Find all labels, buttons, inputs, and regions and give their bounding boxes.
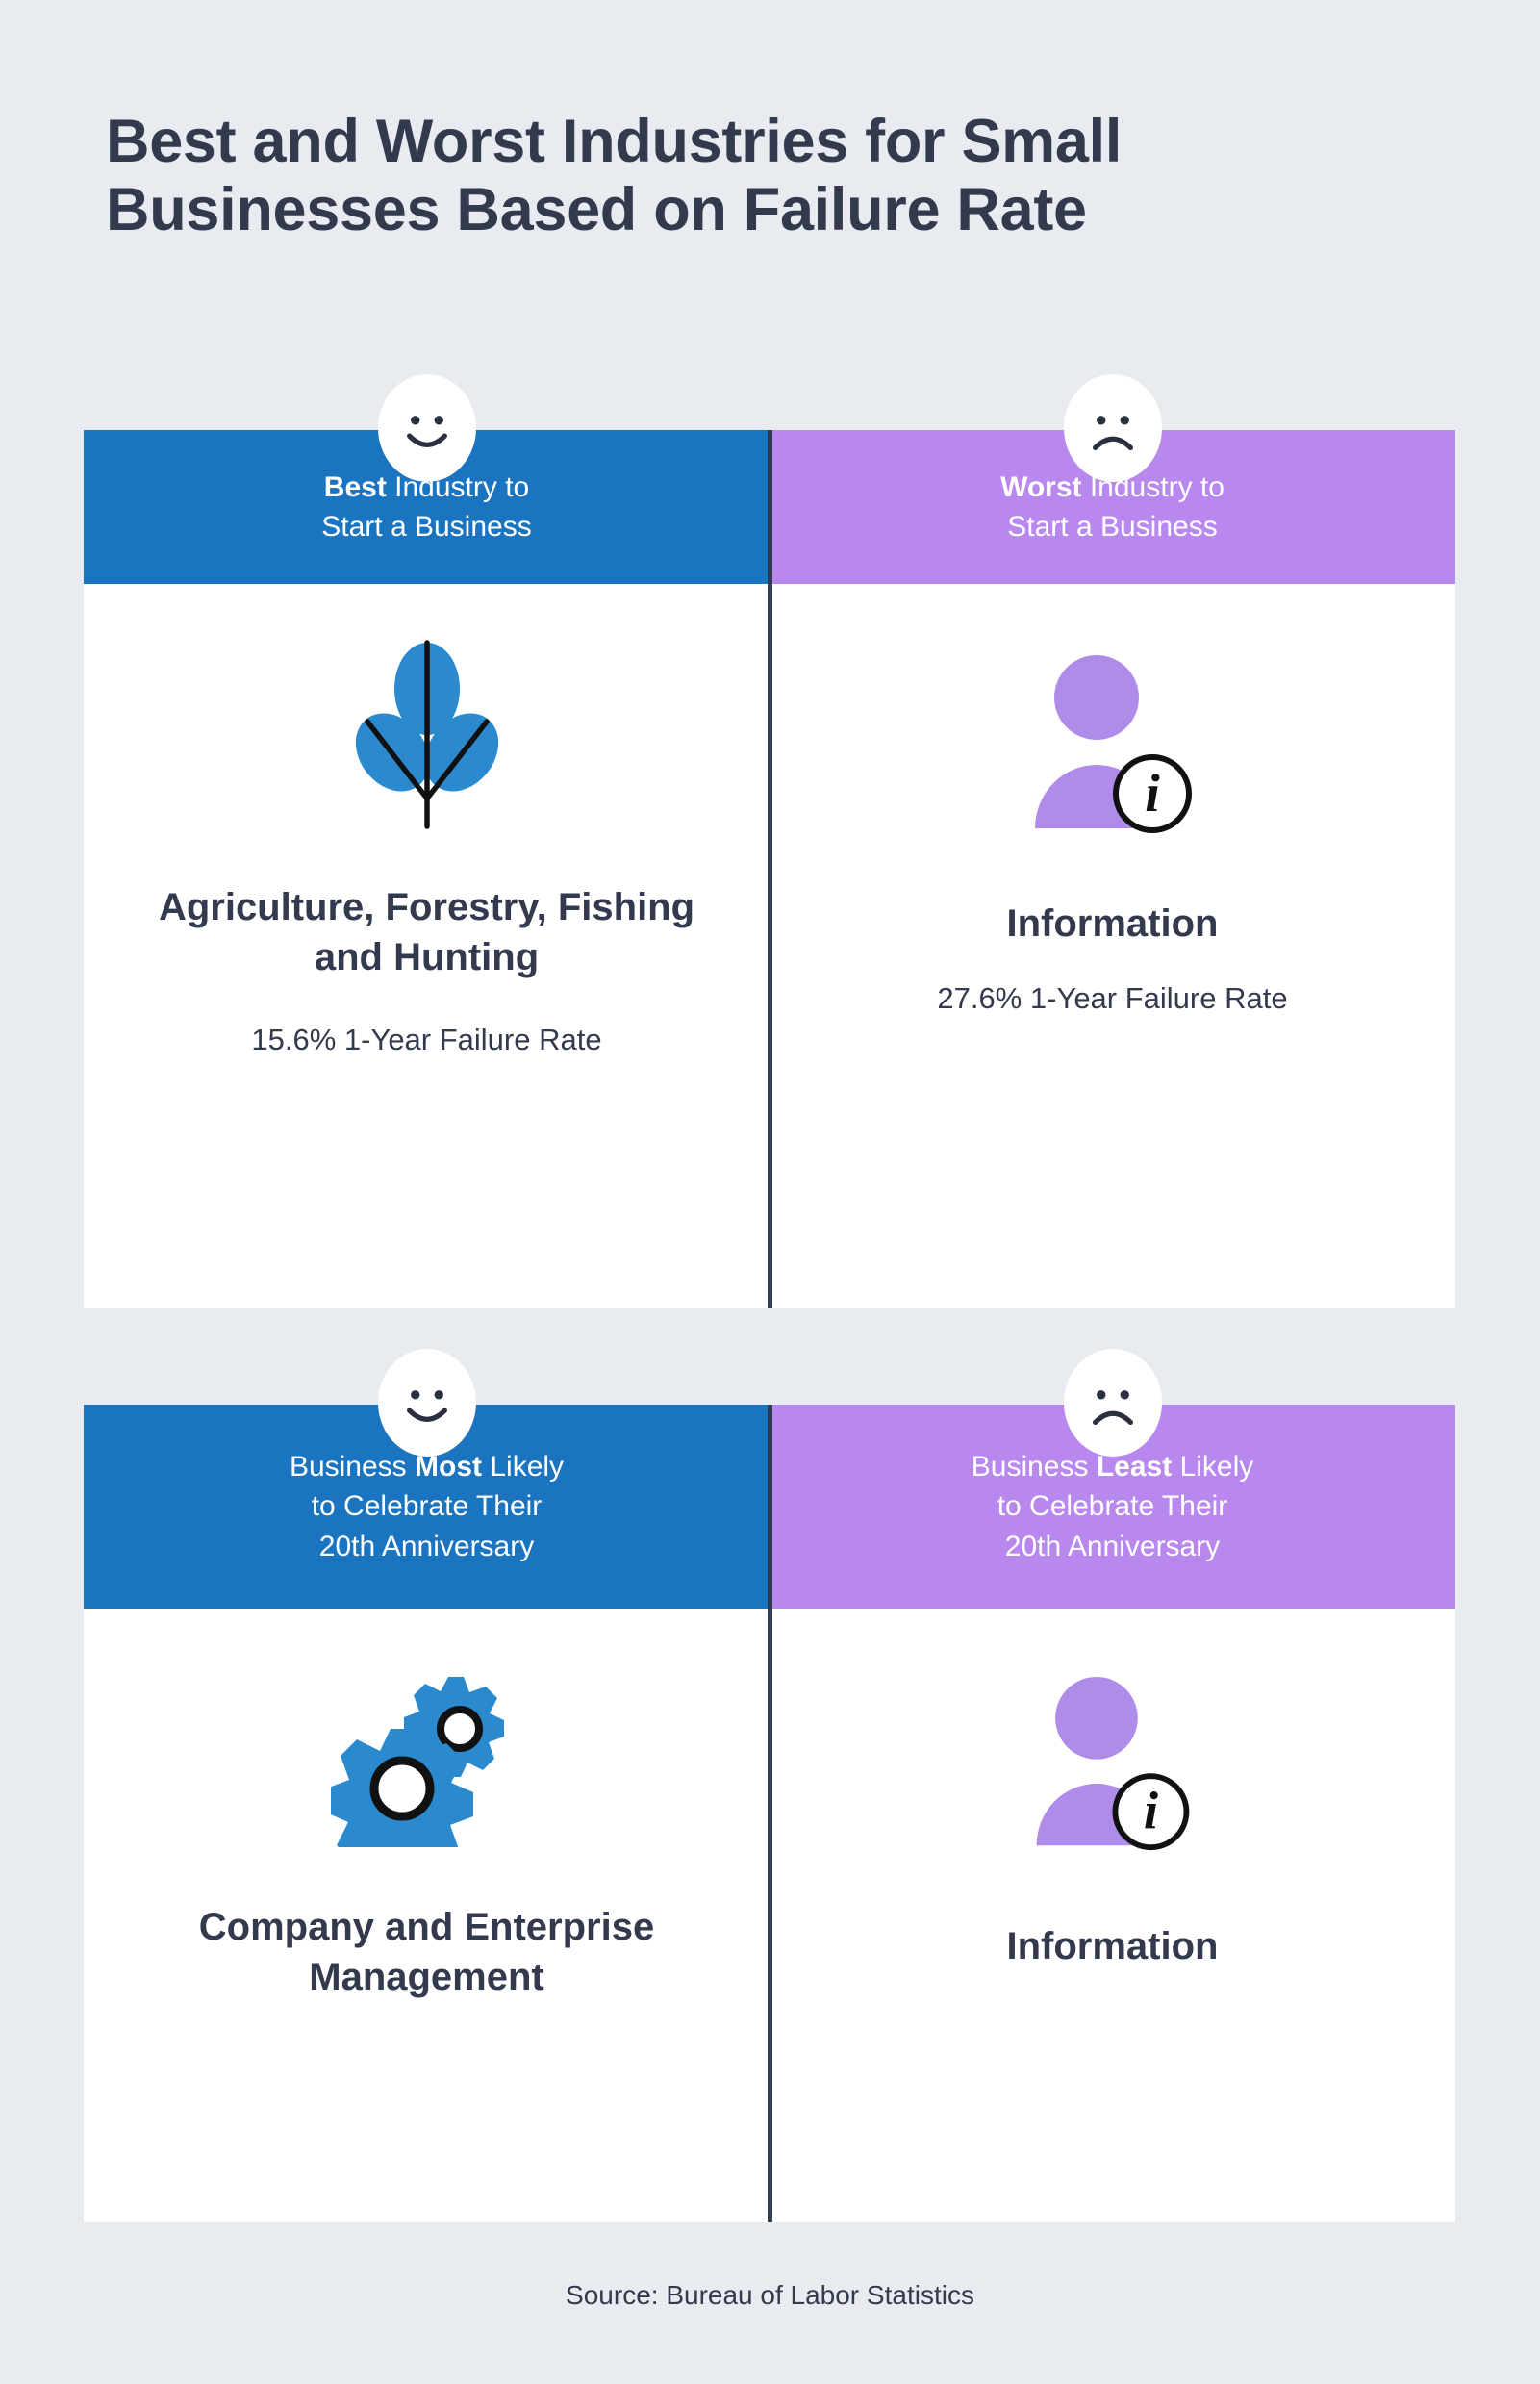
card-most-likely: Business Most Likely to Celebrate Their … bbox=[84, 1405, 770, 2222]
page-title-line-1: Best and Worst Industries for Small bbox=[106, 108, 1452, 176]
card-header-line3-least: 20th Anniversary bbox=[1005, 1531, 1220, 1562]
divider-row-2 bbox=[768, 1405, 772, 2222]
smiley-face-icon bbox=[378, 1349, 476, 1457]
card-header-line3-most: 20th Anniversary bbox=[319, 1531, 534, 1562]
card-header-rest-most: Likely bbox=[482, 1451, 564, 1483]
card-header-most-likely: Business Most Likely to Celebrate Their … bbox=[84, 1405, 770, 1609]
card-header-line2-best: Start a Business bbox=[321, 511, 531, 543]
card-header-line2-most: to Celebrate Their bbox=[312, 1490, 543, 1522]
card-worst-industry: Worst Industry to Start a Business i Inf… bbox=[770, 430, 1455, 1308]
frowny-face-icon bbox=[1064, 1349, 1162, 1457]
card-header-line2-least: to Celebrate Their bbox=[997, 1490, 1228, 1522]
gears-icon bbox=[331, 1655, 523, 1852]
source-attribution: Source: Bureau of Labor Statistics bbox=[0, 2280, 1540, 2311]
person-information-icon: i bbox=[1022, 642, 1204, 849]
card-industry-name-most-likely: Company and Enterprise Management bbox=[132, 1902, 721, 2002]
smiley-face-icon bbox=[378, 374, 476, 482]
card-industry-name-best: Agriculture, Forestry, Fishing and Hunti… bbox=[132, 882, 721, 982]
card-least-likely: Business Least Likely to Celebrate Their… bbox=[770, 1405, 1455, 2222]
svg-text:i: i bbox=[1144, 1782, 1158, 1840]
card-header-worst: Worst Industry to Start a Business bbox=[770, 430, 1455, 584]
card-header-text-least-likely: Business Least Likely to Celebrate Their… bbox=[972, 1447, 1254, 1566]
infographic-root: Best and Worst Industries for Small Busi… bbox=[0, 0, 1540, 2384]
page-title-line-2: Businesses Based on Failure Rate bbox=[106, 176, 1452, 244]
leaf-plant-icon bbox=[350, 624, 504, 846]
svg-text:i: i bbox=[1145, 764, 1160, 824]
divider-row-1 bbox=[768, 430, 772, 1308]
card-header-text-most-likely: Business Most Likely to Celebrate Their … bbox=[290, 1447, 564, 1566]
card-body-best: Agriculture, Forestry, Fishing and Hunti… bbox=[84, 584, 770, 1308]
card-rate-best: 15.6% 1-Year Failure Rate bbox=[251, 1021, 601, 1059]
card-body-least-likely: i Information bbox=[770, 1609, 1455, 2222]
card-header-line2-worst: Start a Business bbox=[1007, 511, 1217, 543]
card-rate-worst: 27.6% 1-Year Failure Rate bbox=[937, 979, 1287, 1018]
card-header-rest-least: Likely bbox=[1172, 1451, 1253, 1483]
card-industry-name-worst: Information bbox=[1007, 899, 1219, 949]
card-industry-name-least-likely: Information bbox=[1007, 1921, 1219, 1971]
card-body-most-likely: Company and Enterprise Management bbox=[84, 1609, 770, 2222]
card-header-best: Best Industry to Start a Business bbox=[84, 430, 770, 584]
card-body-worst: i Information 27.6% 1-Year Failure Rate bbox=[770, 584, 1455, 1308]
frowny-face-icon bbox=[1064, 374, 1162, 482]
page-title: Best and Worst Industries for Small Busi… bbox=[106, 108, 1452, 243]
card-best-industry: Best Industry to Start a Business Agricu… bbox=[84, 430, 770, 1308]
card-header-least-likely: Business Least Likely to Celebrate Their… bbox=[770, 1405, 1455, 1609]
person-information-icon: i bbox=[1023, 1666, 1201, 1864]
